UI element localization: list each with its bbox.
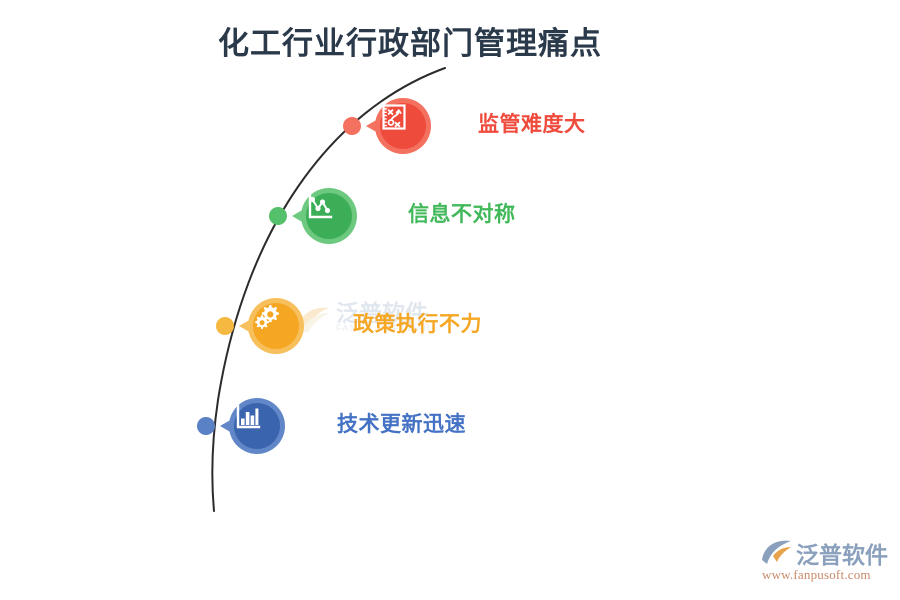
arc-dot — [269, 207, 287, 225]
list-item[interactable]: 政策执行不力 — [215, 296, 545, 356]
arc-dot — [343, 117, 361, 135]
bar-chart-icon — [234, 403, 280, 449]
marker-bar-chart[interactable] — [196, 396, 306, 456]
line-chart-icon — [306, 193, 352, 239]
list-item[interactable]: 监管难度大 — [342, 96, 642, 156]
arc-dot — [216, 317, 234, 335]
brand-logo-icon — [760, 538, 794, 568]
strategy-playbook-icon — [380, 103, 426, 149]
brand-name: 泛普软件 — [796, 536, 888, 570]
list-item-label: 政策执行不力 — [353, 308, 482, 338]
page-title: 化工行业行政部门管理痛点 — [0, 18, 820, 63]
marker-strategy-playbook[interactable] — [342, 96, 452, 156]
infographic-canvas: 化工行业行政部门管理痛点 泛普软件 FANPU SOFTWARE — [0, 0, 900, 600]
gears-icon — [253, 303, 299, 349]
marker-gears[interactable] — [215, 296, 325, 356]
list-item-label: 信息不对称 — [408, 198, 516, 228]
arc-dot — [197, 417, 215, 435]
marker-line-chart[interactable] — [268, 186, 378, 246]
brand-url: www.fanpusoft.com — [762, 567, 871, 583]
list-item-label: 技术更新迅速 — [337, 408, 466, 438]
list-item-label: 监管难度大 — [478, 108, 586, 138]
brand-logo: 泛普软件 www.fanpusoft.com — [760, 536, 890, 588]
list-item[interactable]: 信息不对称 — [268, 186, 568, 246]
list-item[interactable]: 技术更新迅速 — [196, 396, 526, 456]
